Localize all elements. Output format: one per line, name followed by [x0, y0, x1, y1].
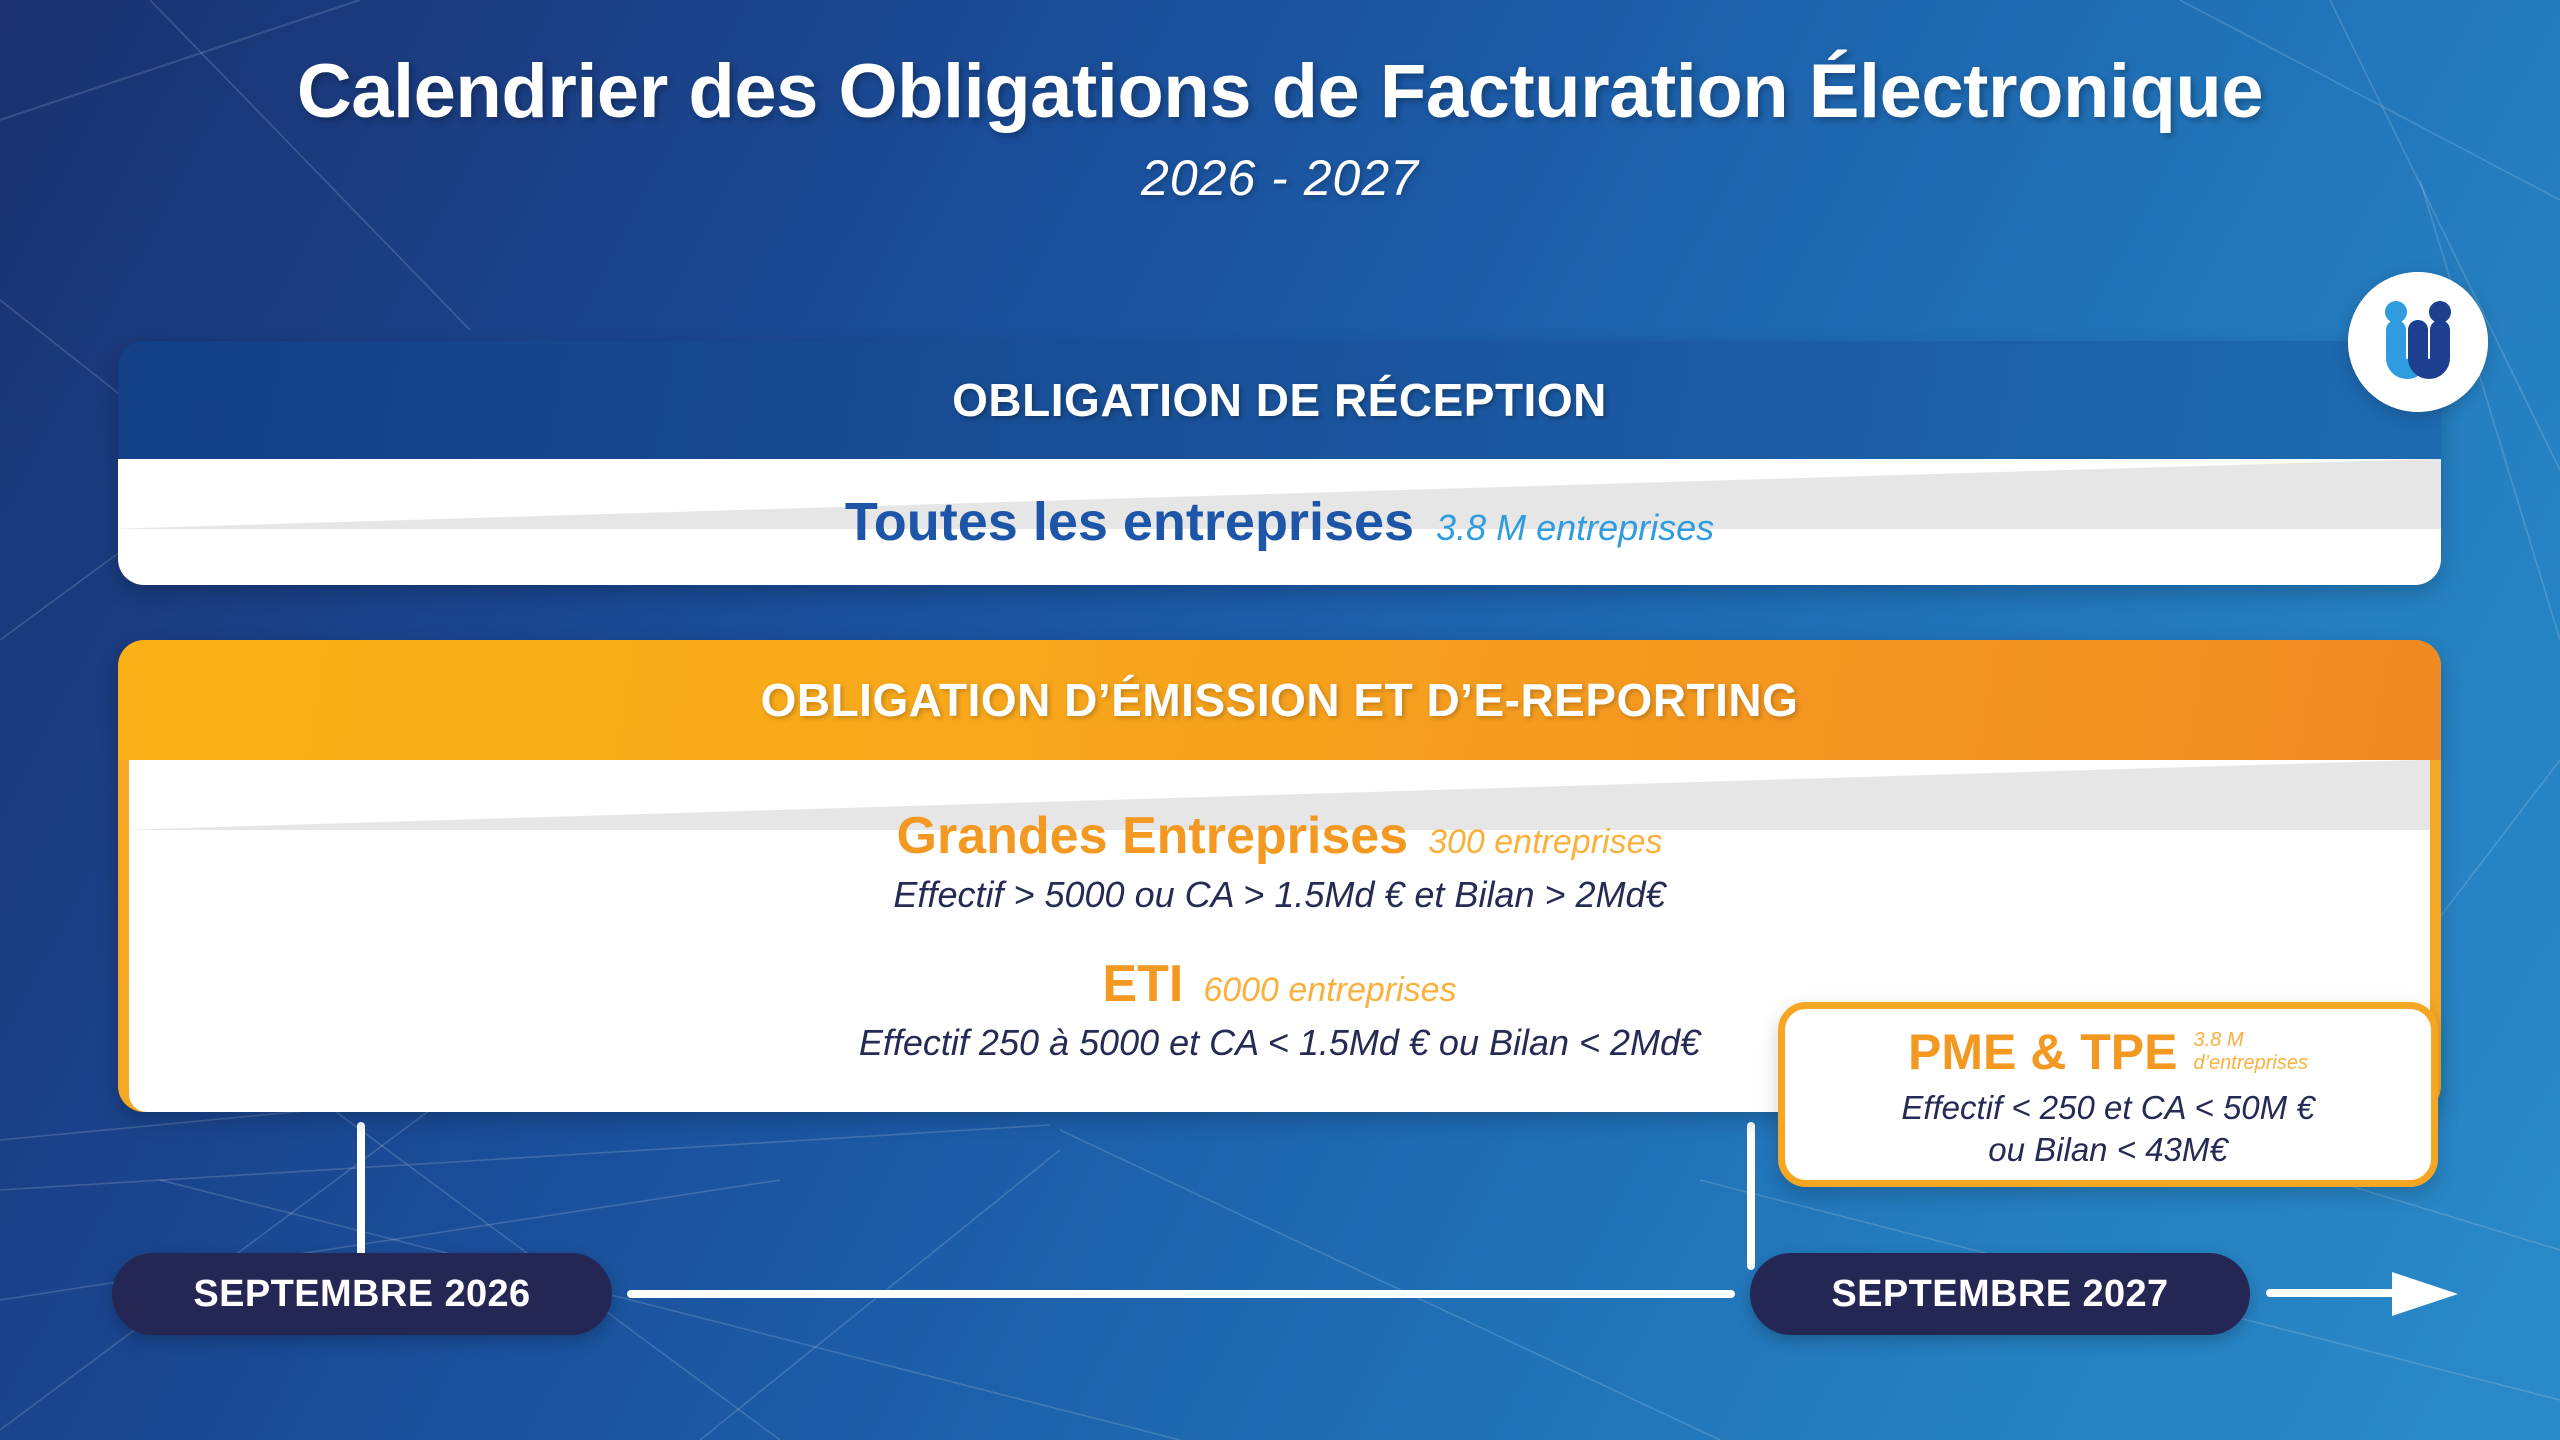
reception-entry-label: Toutes les entreprises [845, 491, 1414, 553]
reception-heading: OBLIGATION DE RÉCEPTION [952, 373, 1607, 427]
page-title: Calendrier des Obligations de Facturatio… [0, 52, 2560, 133]
iwi-logo [2348, 272, 2488, 412]
segment-name: Grandes Entreprises [897, 806, 1409, 866]
reception-entry: Toutes les entreprises 3.8 M entreprises [845, 491, 1714, 553]
pme-tpe-card: PME & TPE 3.8 M d’entreprises Effectif <… [1778, 1002, 2438, 1187]
title-block: Calendrier des Obligations de Facturatio… [0, 52, 2560, 207]
reception-obligation-card: OBLIGATION DE RÉCEPTION Toutes les entre… [118, 341, 2441, 585]
pme-criteria-line2: ou Bilan < 43M€ [1988, 1131, 2227, 1168]
pme-title-row: PME & TPE 3.8 M d’entreprises [1785, 1023, 2431, 1081]
reception-card-header: OBLIGATION DE RÉCEPTION [118, 341, 2441, 459]
emission-heading: OBLIGATION D’ÉMISSION ET D’E-REPORTING [761, 673, 1799, 727]
timeline-rail [627, 1290, 1735, 1298]
segment-name: ETI [1102, 954, 1183, 1014]
connector-line-2027 [1747, 1122, 1755, 1270]
segment-count: 6000 entreprises [1203, 971, 1456, 1010]
milestone-label: SEPTEMBRE 2026 [193, 1273, 530, 1316]
reception-entry-count: 3.8 M entreprises [1436, 507, 1714, 549]
pme-count-line1: 3.8 M [2193, 1029, 2243, 1051]
pme-criteria: Effectif < 250 et CA < 50M € ou Bilan < … [1785, 1087, 2431, 1171]
timeline-milestone-2027: SEPTEMBRE 2027 [1750, 1253, 2250, 1335]
reception-card-body: Toutes les entreprises 3.8 M entreprises [118, 459, 2441, 585]
logo-dot-right [2429, 301, 2451, 323]
segment-criteria: Effectif > 5000 ou CA > 1.5Md € et Bilan… [129, 874, 2430, 916]
timeline-arrow-icon [2266, 1268, 2458, 1320]
segment-grandes-entreprises: Grandes Entreprises 300 entreprises Effe… [129, 806, 2430, 916]
milestone-label: SEPTEMBRE 2027 [1831, 1273, 2168, 1316]
logo-dot-left [2385, 301, 2407, 323]
pme-criteria-line1: Effectif < 250 et CA < 50M € [1901, 1089, 2314, 1126]
connector-line-2026 [357, 1122, 365, 1270]
infographic-poster: Calendrier des Obligations de Facturatio… [0, 0, 2560, 1440]
pme-name: PME & TPE [1908, 1023, 2177, 1081]
page-subtitle: 2026 - 2027 [0, 149, 2560, 207]
pme-count: 3.8 M d’entreprises [2193, 1029, 2308, 1075]
pme-count-line2: d’entreprises [2193, 1052, 2308, 1074]
segment-count: 300 entreprises [1428, 823, 1662, 862]
emission-card-header: OBLIGATION D’ÉMISSION ET D’E-REPORTING [118, 640, 2441, 760]
segment-title-row: Grandes Entreprises 300 entreprises [129, 806, 2430, 866]
timeline-milestone-2026: SEPTEMBRE 2026 [112, 1253, 612, 1335]
